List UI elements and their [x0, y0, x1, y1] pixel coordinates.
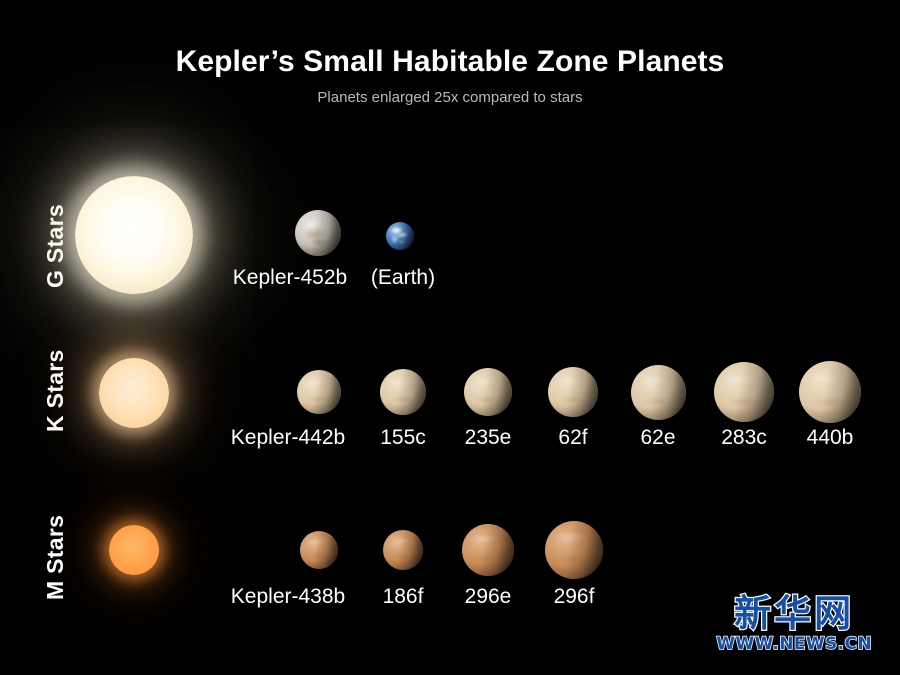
planet-limb-shading — [300, 531, 338, 569]
page-subtitle: Planets enlarged 25x compared to stars — [0, 89, 900, 106]
planet-label-kepler-235e: 235e — [465, 426, 512, 450]
planet-label-earth: (Earth) — [371, 266, 435, 290]
planet-limb-shading — [386, 222, 414, 250]
planet-label-kepler-283c: 283c — [721, 426, 767, 450]
row-label-m-stars: M Stars — [42, 515, 69, 600]
planet-limb-shading — [799, 361, 861, 423]
planet-kepler-62f — [548, 367, 598, 417]
planet-limb-shading — [295, 210, 341, 256]
planet-limb-shading — [631, 365, 686, 420]
planet-label-kepler-440b: 440b — [807, 426, 854, 450]
planet-kepler-186f — [383, 530, 423, 570]
planet-label-kepler-62f: 62f — [558, 426, 587, 450]
planet-limb-shading — [297, 370, 341, 414]
planet-limb-shading — [545, 521, 603, 579]
m-star — [109, 525, 159, 575]
planet-label-kepler-438b: Kepler-438b — [231, 585, 345, 609]
planet-limb-shading — [380, 369, 426, 415]
planet-kepler-155c — [380, 369, 426, 415]
planet-limb-shading — [548, 367, 598, 417]
planet-label-kepler-186f: 186f — [383, 585, 424, 609]
planet-kepler-283c — [714, 362, 774, 422]
row-label-k-stars: K Stars — [42, 349, 69, 432]
planet-earth — [386, 222, 414, 250]
planet-label-kepler-442b: Kepler-442b — [231, 426, 345, 450]
row-label-g-stars: G Stars — [42, 204, 69, 288]
planet-kepler-296f — [545, 521, 603, 579]
planet-label-kepler-452b: Kepler-452b — [233, 266, 347, 290]
planet-kepler-296e — [462, 524, 514, 576]
planet-limb-shading — [714, 362, 774, 422]
watermark-url: WWW.NEWS.CN — [716, 636, 872, 653]
watermark-logo-text: 新华网 — [716, 595, 872, 632]
planet-limb-shading — [383, 530, 423, 570]
infographic-poster: Kepler’s Small Habitable Zone Planets Pl… — [0, 0, 900, 675]
planet-label-kepler-296f: 296f — [554, 585, 595, 609]
planet-limb-shading — [462, 524, 514, 576]
planet-kepler-235e — [464, 368, 512, 416]
planet-kepler-452b — [295, 210, 341, 256]
page-title: Kepler’s Small Habitable Zone Planets — [0, 45, 900, 79]
planet-kepler-438b — [300, 531, 338, 569]
planet-limb-shading — [464, 368, 512, 416]
k-star — [99, 358, 169, 428]
planet-kepler-440b — [799, 361, 861, 423]
planet-kepler-442b — [297, 370, 341, 414]
planet-kepler-62e — [631, 365, 686, 420]
g-star — [75, 176, 193, 294]
planet-label-kepler-296e: 296e — [465, 585, 512, 609]
planet-label-kepler-155c: 155c — [380, 426, 426, 450]
watermark: 新华网 WWW.NEWS.CN — [716, 595, 872, 653]
planet-label-kepler-62e: 62e — [640, 426, 675, 450]
